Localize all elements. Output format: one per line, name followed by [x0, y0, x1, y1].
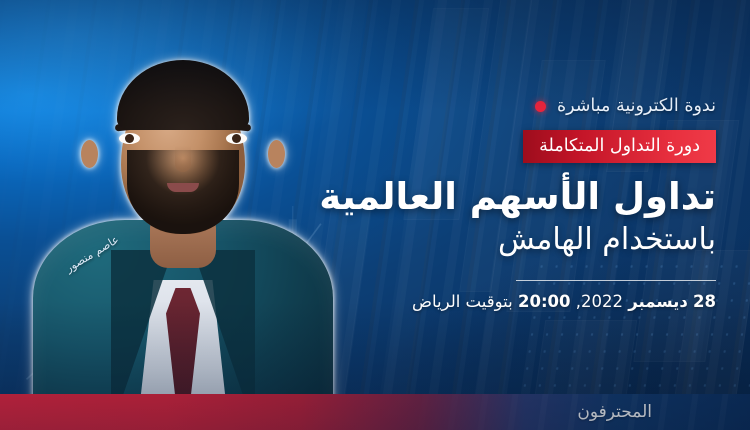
- presenter-eye-right: [226, 133, 247, 144]
- webinar-promo-banner: عاصم منصور ندوة الكترونية مباشرة دورة ال…: [0, 0, 750, 430]
- schedule-time: 20:00: [518, 292, 571, 311]
- page-title: تداول الأسهم العالمية: [296, 176, 716, 217]
- presenter-mouth: [167, 183, 199, 192]
- schedule-year: 2022: [581, 292, 623, 311]
- course-badge: دورة التداول المتكاملة: [523, 130, 716, 163]
- banner-content: ندوة الكترونية مباشرة دورة التداول المتك…: [296, 96, 716, 311]
- presenter-silhouette: [33, 20, 333, 430]
- presenter-nose: [175, 146, 191, 172]
- schedule-timezone: بتوقيت الرياض: [412, 292, 513, 311]
- page-subtitle: باستخدام الهامش: [296, 223, 716, 258]
- kicker-label: ندوة الكترونية مباشرة: [557, 96, 716, 116]
- presenter-hair: [117, 60, 249, 130]
- live-webinar-kicker: ندوة الكترونية مباشرة: [296, 96, 716, 116]
- live-dot-icon: [535, 101, 546, 112]
- schedule-month: ديسمبر: [628, 292, 688, 311]
- presenter-ear-right: [268, 140, 285, 168]
- brand-bar-streaks: [0, 394, 750, 430]
- presenter-eye-left: [119, 133, 140, 144]
- schedule-day: 28: [693, 292, 716, 311]
- presenter-ear-left: [81, 140, 98, 168]
- divider: [516, 280, 716, 281]
- schedule-text: 28 ديسمبر 2022, 20:00 بتوقيت الرياض: [296, 292, 716, 311]
- brand-bar: المحترفون: [0, 394, 750, 430]
